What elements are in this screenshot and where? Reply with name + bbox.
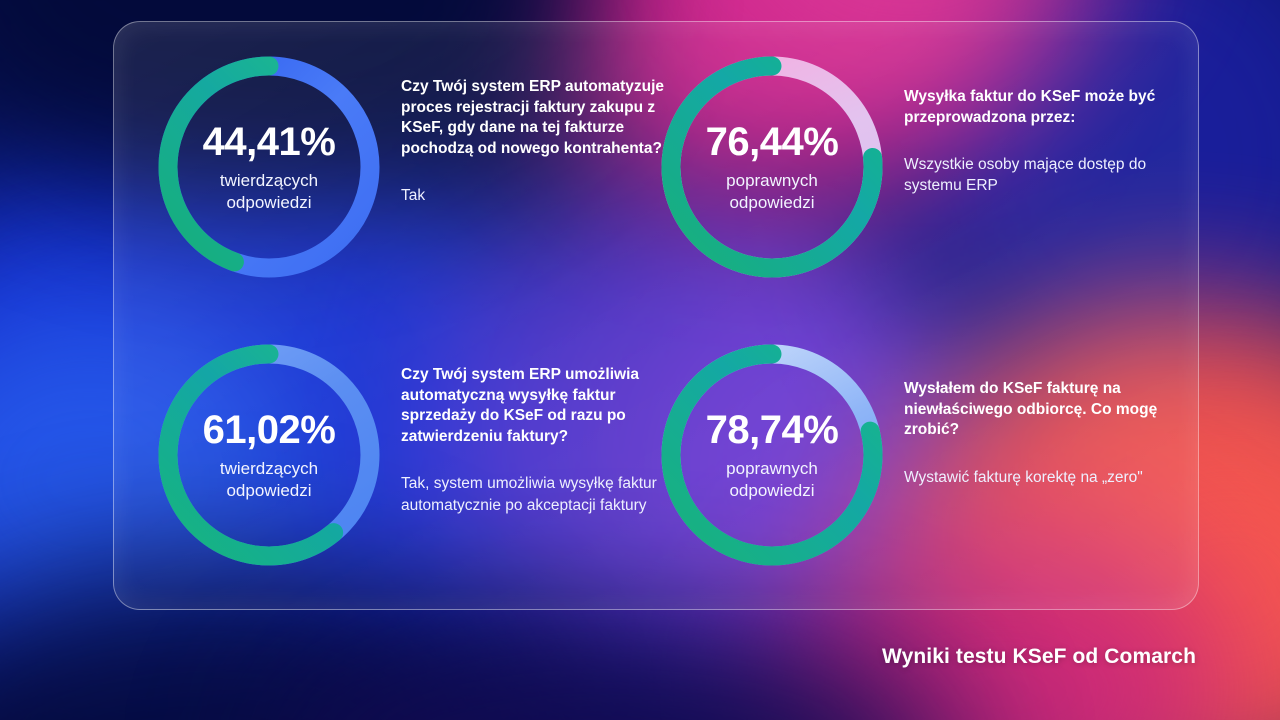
question-text: Wysyłka faktur do KSeF może być przeprow… <box>904 87 1172 128</box>
donut-chart-bottom-left: 61,02% twierdzących odpowiedzi <box>153 339 385 571</box>
footer-title: Wyniki testu KSeF od Comarch <box>882 645 1196 669</box>
stat-cell-bottom-right: 78,74% poprawnych odpowiedzi Wysłałem do… <box>656 317 1196 607</box>
donut-chart-bottom-right: 78,74% poprawnych odpowiedzi <box>656 339 888 571</box>
question-text: Czy Twój system ERP automatyzuje proces … <box>401 77 669 159</box>
stat-cell-bottom-left: 61,02% twierdzących odpowiedzi Czy Twój … <box>153 317 693 607</box>
stat-cell-top-left: 44,41% twierdzących odpowiedzi Czy Twój … <box>153 29 693 319</box>
donut-svg <box>656 339 888 571</box>
donut-svg <box>153 339 385 571</box>
stat-text-bottom-right: Wysłałem do KSeF fakturę na niewłaściweg… <box>888 317 1172 488</box>
stat-text-bottom-left: Czy Twój system ERP umożliwia automatycz… <box>385 317 669 516</box>
donut-svg <box>153 51 385 283</box>
stats-grid: 44,41% twierdzących odpowiedzi Czy Twój … <box>113 21 1197 608</box>
donut-chart-top-right: 76,44% poprawnych odpowiedzi <box>656 51 888 283</box>
donut-chart-top-left: 44,41% twierdzących odpowiedzi <box>153 51 385 283</box>
answer-text: Tak, system umożliwia wysyłkę faktur aut… <box>401 473 669 515</box>
answer-text: Tak <box>401 185 669 206</box>
answer-text: Wszystkie osoby mające dostęp do systemu… <box>904 154 1172 196</box>
question-text: Wysłałem do KSeF fakturę na niewłaściweg… <box>904 379 1172 441</box>
question-text: Czy Twój system ERP umożliwia automatycz… <box>401 365 669 447</box>
stat-text-top-right: Wysyłka faktur do KSeF może być przeprow… <box>888 29 1172 196</box>
answer-text: Wystawić fakturę korektę na „zero" <box>904 467 1172 488</box>
stat-text-top-left: Czy Twój system ERP automatyzuje proces … <box>385 29 669 207</box>
donut-svg <box>656 51 888 283</box>
stat-cell-top-right: 76,44% poprawnych odpowiedzi Wysyłka fak… <box>656 29 1196 319</box>
